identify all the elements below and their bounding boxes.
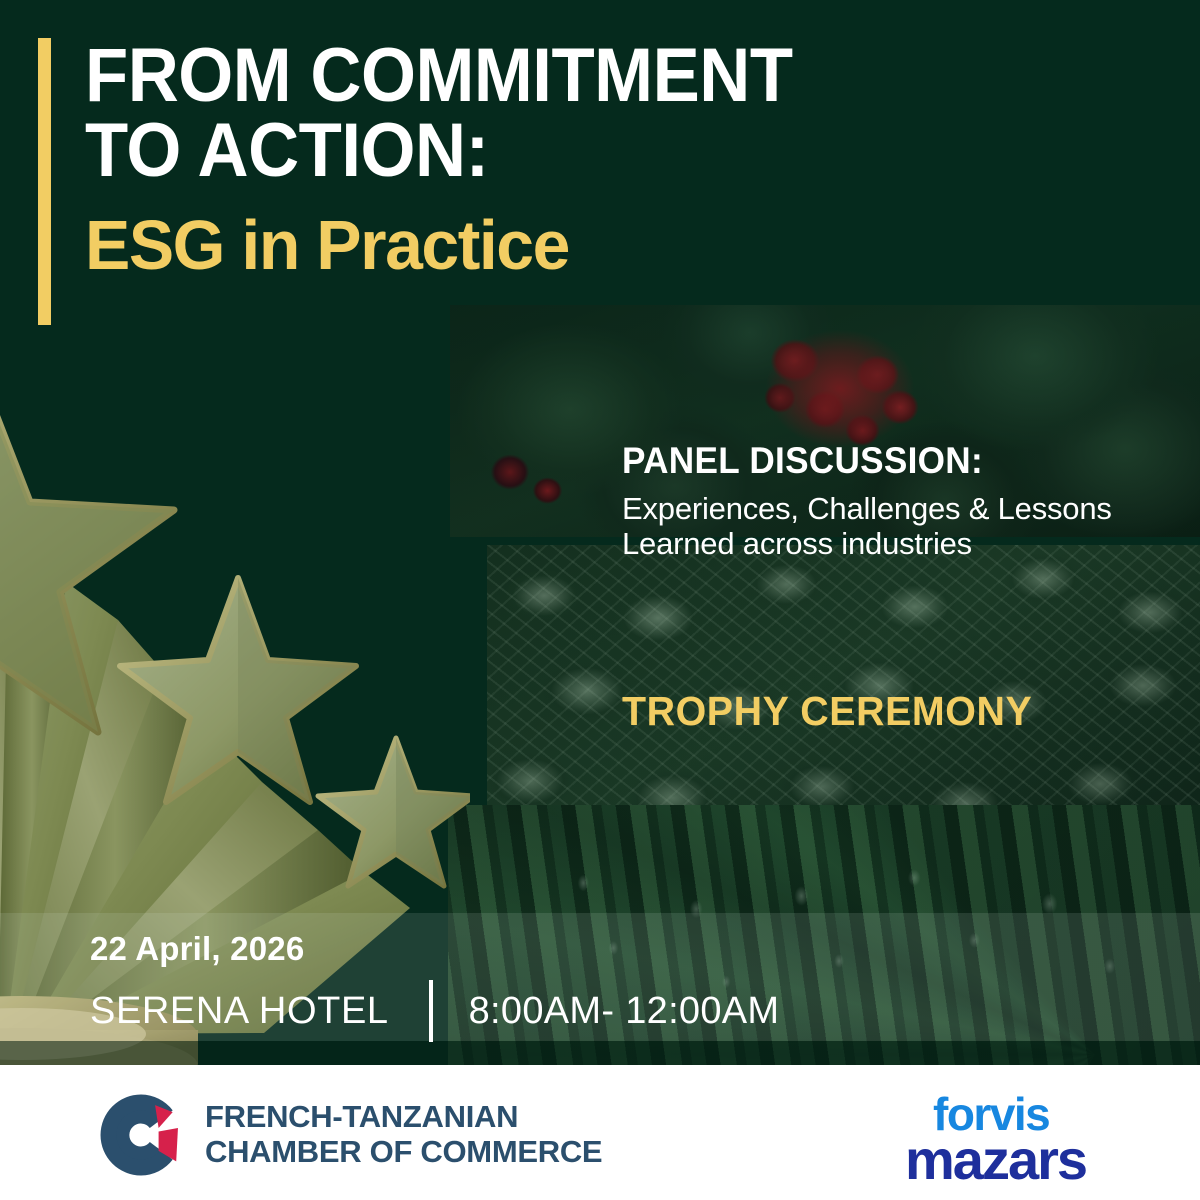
photo-fittonia-panel <box>487 545 1200 826</box>
footer-bar: FRENCH-TANZANIAN CHAMBER OF COMMERCE for… <box>0 1065 1200 1200</box>
headline-main: FROM COMMITMENT TO ACTION: <box>85 38 894 188</box>
panel-discussion-subtitle: Experiences, Challenges & Lessons Learne… <box>622 491 1142 562</box>
venue-time-row: SERENA HOTEL 8:00AM- 12:00AM <box>90 980 779 1042</box>
event-date: 22 April, 2026 <box>90 930 779 968</box>
panel-discussion-heading: PANEL DISCUSSION: <box>622 440 1116 482</box>
panel-discussion-block: PANEL DISCUSSION: Experiences, Challenge… <box>622 440 1142 562</box>
event-time: 8:00AM- 12:00AM <box>469 990 780 1033</box>
venue-time-divider <box>429 980 433 1042</box>
cci-mark-icon <box>97 1091 185 1179</box>
event-poster: FROM COMMITMENT TO ACTION: ESG in Practi… <box>0 0 1200 1200</box>
event-venue: SERENA HOTEL <box>90 990 389 1033</box>
headline-block: FROM COMMITMENT TO ACTION: ESG in Practi… <box>85 38 955 280</box>
headline-accent: ESG in Practice <box>85 210 929 280</box>
event-details-block: 22 April, 2026 SERENA HOTEL 8:00AM- 12:0… <box>90 930 779 1042</box>
accent-bar <box>38 38 51 325</box>
cci-logo: FRENCH-TANZANIAN CHAMBER OF COMMERCE <box>97 1091 602 1179</box>
forvis-mazars-logo: forvis mazars <box>905 1095 1086 1184</box>
cci-logo-text: FRENCH-TANZANIAN CHAMBER OF COMMERCE <box>205 1100 602 1169</box>
trophy-ceremony-heading: TROPHY CEREMONY <box>622 688 1032 735</box>
mazars-wordmark: mazars <box>905 1135 1086 1184</box>
